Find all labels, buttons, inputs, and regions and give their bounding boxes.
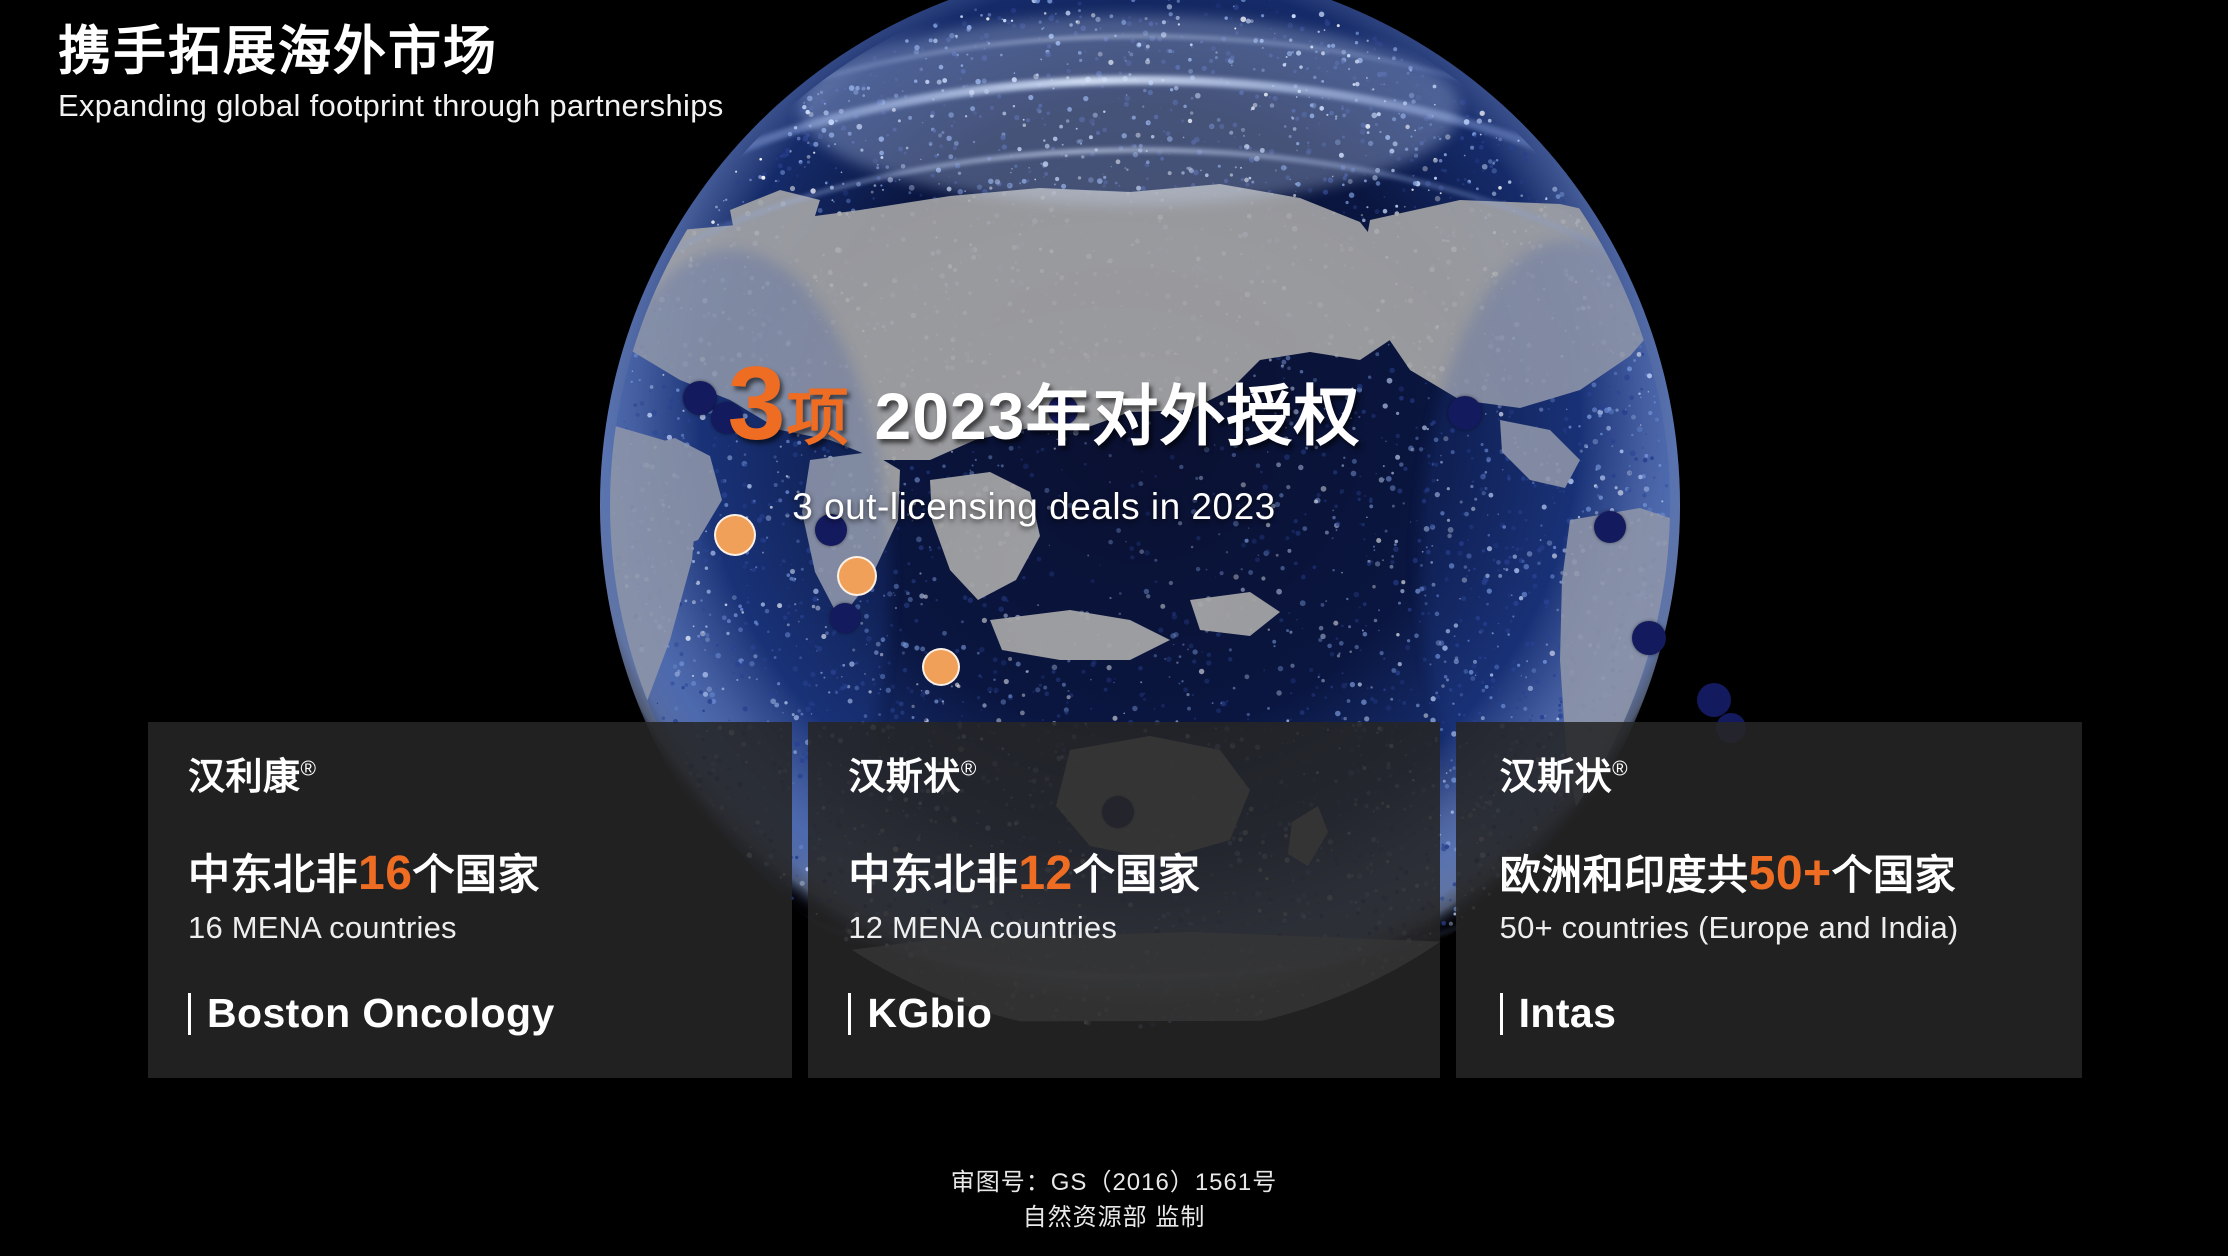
globe-highlight <box>800 15 1460 205</box>
vertical-bar-icon <box>848 993 851 1035</box>
card-partner-name: Boston Oncology <box>207 993 555 1034</box>
title-block: 携手拓展海外市场 Expanding global footprint thro… <box>58 22 724 124</box>
card-brand-name: 汉斯状 <box>1500 756 1613 797</box>
partnership-card[interactable]: 汉斯状® 中东北非12个国家 12 MENA countries KGbio <box>808 722 1439 1078</box>
marker-southeast-asia <box>922 648 960 686</box>
card-stat-prefix: 中东北非 <box>188 851 358 898</box>
partnership-card[interactable]: 汉利康® 中东北非16个国家 16 MENA countries Boston … <box>148 722 792 1078</box>
card-partner-name: KGbio <box>867 993 992 1034</box>
registered-trademark-icon: ® <box>961 758 977 781</box>
marker-far-east <box>1048 395 1078 425</box>
marker-central-asia <box>711 402 743 434</box>
card-partner-row: Boston Oncology <box>188 993 792 1035</box>
registered-trademark-icon: ® <box>1612 758 1628 781</box>
vertical-bar-icon <box>188 993 191 1035</box>
marker-north-brazil <box>1632 621 1666 655</box>
page-title-en: Expanding global footprint through partn… <box>58 88 724 124</box>
marker-china <box>815 514 847 546</box>
card-stat-number: 12 <box>1018 847 1072 900</box>
card-stat-number: 50+ <box>1749 847 1832 900</box>
marker-middle-east <box>714 514 756 556</box>
card-partner-name: Intas <box>1519 993 1617 1034</box>
card-stat-prefix: 中东北非 <box>848 851 1018 898</box>
card-subtitle: 16 MENA countries <box>188 911 792 945</box>
card-stat: 中东北非16个国家 <box>188 849 792 900</box>
card-subtitle: 50+ countries (Europe and India) <box>1500 911 2082 945</box>
card-stat-suffix: 个国家 <box>1073 851 1201 898</box>
marker-north-america <box>1448 396 1482 430</box>
card-brand-name: 汉斯状 <box>848 756 961 797</box>
marker-india <box>837 556 877 596</box>
partnership-card[interactable]: 汉斯状® 欧洲和印度共50+个国家 50+ countries (Europe … <box>1456 722 2082 1078</box>
card-partner-row: KGbio <box>848 993 1439 1035</box>
page-title-cn: 携手拓展海外市场 <box>58 22 724 81</box>
card-brand: 汉利康® <box>188 758 792 795</box>
card-brand-name: 汉利康 <box>188 756 301 797</box>
footer-line-2: 自然资源部 监制 <box>0 1201 2228 1236</box>
card-brand: 汉斯状® <box>848 758 1439 795</box>
marker-brazil-east <box>1697 683 1731 717</box>
card-stat: 欧洲和印度共50+个国家 <box>1500 849 2082 900</box>
card-stat-suffix: 个国家 <box>1832 852 1957 898</box>
map-approval-footer: 审图号：GS（2016）1561号 自然资源部 监制 <box>0 1166 2228 1236</box>
card-stat-number: 16 <box>358 847 412 900</box>
footer-line-1: 审图号：GS（2016）1561号 <box>0 1166 2228 1201</box>
card-partner-row: Intas <box>1500 993 2082 1035</box>
slide-root: 携手拓展海外市场 Expanding global footprint thro… <box>0 0 2228 1256</box>
vertical-bar-icon <box>1500 993 1503 1035</box>
card-stat-prefix: 欧洲和印度共 <box>1500 852 1749 898</box>
marker-caribbean <box>1594 511 1626 543</box>
registered-trademark-icon: ® <box>301 758 317 781</box>
card-stat-suffix: 个国家 <box>412 851 540 898</box>
card-brand: 汉斯状® <box>1500 758 2082 795</box>
marker-east-china <box>830 603 860 633</box>
partnership-cards: 汉利康® 中东北非16个国家 16 MENA countries Boston … <box>148 722 2082 1078</box>
card-stat: 中东北非12个国家 <box>848 849 1439 900</box>
card-subtitle: 12 MENA countries <box>848 911 1439 945</box>
